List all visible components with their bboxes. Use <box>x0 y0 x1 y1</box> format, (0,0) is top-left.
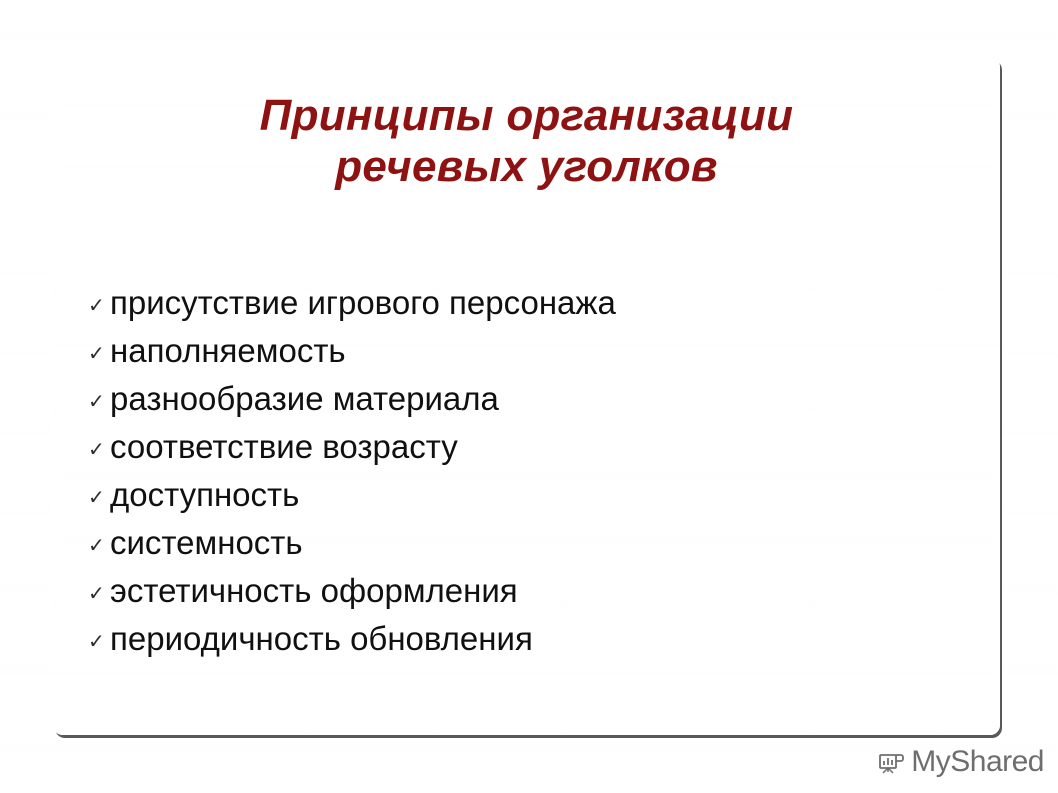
list-item: ✓ эстетичность оформления <box>88 567 958 615</box>
checkmark-icon: ✓ <box>88 618 110 666</box>
checkmark-icon: ✓ <box>88 522 110 570</box>
watermark-label: MyShared <box>911 745 1044 779</box>
myshared-watermark: MyShared <box>875 745 1044 779</box>
checkmark-icon: ✓ <box>88 330 110 378</box>
checkmark-icon: ✓ <box>88 474 110 522</box>
list-item-label: периодичность обновления <box>110 615 533 663</box>
list-item-label: присутствие игрового персонажа <box>110 279 616 327</box>
list-item: ✓ системность <box>88 519 958 567</box>
checkmark-icon: ✓ <box>88 570 110 618</box>
checkmark-icon: ✓ <box>88 426 110 474</box>
list-item: ✓ периодичность обновления <box>88 615 958 663</box>
list-item-label: разнообразие материала <box>110 375 499 423</box>
list-item: ✓ соответствие возрасту <box>88 423 958 471</box>
content-panel: Принципы организации речевых уголков ✓ п… <box>53 57 1000 735</box>
projector-chart-icon <box>875 746 907 778</box>
checkmark-icon: ✓ <box>88 282 110 330</box>
list-item-label: эстетичность оформления <box>110 567 518 615</box>
list-item-label: соответствие возрасту <box>110 423 458 471</box>
principles-list: ✓ присутствие игрового персонажа ✓ напол… <box>88 279 958 663</box>
list-item: ✓ присутствие игрового персонажа <box>88 279 958 327</box>
list-item-label: системность <box>110 519 303 567</box>
list-item-label: доступность <box>110 471 299 519</box>
list-item: ✓ разнообразие материала <box>88 375 958 423</box>
presentation-slide: Принципы организации речевых уголков ✓ п… <box>0 0 1058 793</box>
list-item-label: наполняемость <box>110 327 346 375</box>
checkmark-icon: ✓ <box>88 378 110 426</box>
list-item: ✓ доступность <box>88 471 958 519</box>
slide-title: Принципы организации речевых уголков <box>113 90 940 192</box>
list-item: ✓ наполняемость <box>88 327 958 375</box>
